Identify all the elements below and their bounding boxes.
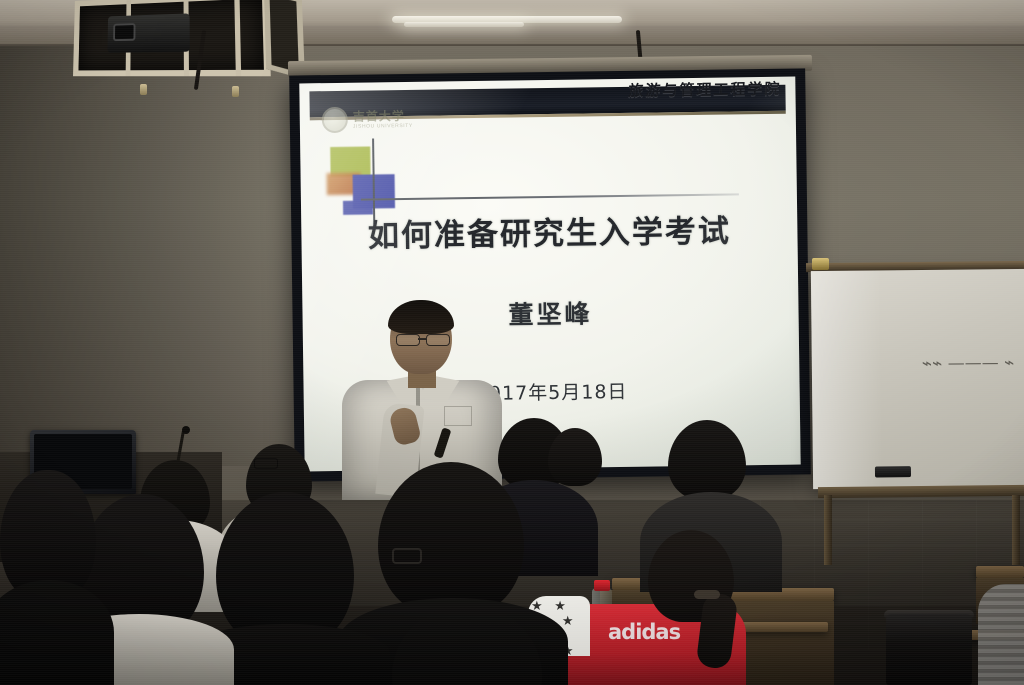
slide-decoration bbox=[326, 144, 415, 215]
audience-head bbox=[548, 428, 602, 486]
water-bottle-cap bbox=[594, 580, 610, 591]
whiteboard-leg bbox=[824, 495, 832, 565]
lecture-hall-scene: 旅游与管理工程学院 吉首大学 JISHOU UNIVERSITY 如何准备研究生… bbox=[0, 0, 1024, 685]
projector-lens-icon bbox=[113, 23, 135, 41]
audience-glasses bbox=[254, 458, 278, 469]
slide-banner-text: 旅游与管理工程学院 bbox=[628, 78, 782, 101]
speaker-shirt-pocket bbox=[444, 406, 472, 426]
ceiling-bolt bbox=[232, 86, 239, 97]
shirt-brand-text: adidas bbox=[608, 620, 680, 644]
whiteboard-eraser-icon bbox=[875, 466, 911, 477]
ceiling-bolt bbox=[140, 84, 147, 95]
audience-person-checkered-shirt bbox=[978, 584, 1024, 685]
microphone-icon bbox=[182, 426, 190, 434]
logo-name-cn: 吉首大学 bbox=[353, 109, 413, 122]
ceiling-light-glow bbox=[404, 22, 524, 27]
foreground-head bbox=[0, 470, 96, 598]
bench-seat bbox=[736, 622, 828, 632]
speaker-glasses-left-lens bbox=[396, 334, 420, 346]
desk bbox=[976, 566, 1024, 578]
logo-emblem-icon bbox=[322, 107, 348, 133]
speaker-glasses-bridge bbox=[418, 338, 426, 340]
slide-title: 如何准备研究生入学考试 bbox=[301, 205, 798, 257]
wall-shadow-left bbox=[0, 46, 300, 466]
whiteboard-clip-icon bbox=[812, 258, 829, 270]
foreground-glasses bbox=[392, 548, 422, 564]
logo-name-en: JISHOU UNIVERSITY bbox=[353, 123, 413, 129]
whiteboard-tray bbox=[818, 485, 1024, 498]
university-logo: 吉首大学 JISHOU UNIVERSITY bbox=[322, 106, 413, 133]
slide-horizontal-rule bbox=[361, 193, 739, 200]
whiteboard-leg bbox=[1012, 495, 1020, 565]
whiteboard[interactable]: ⌁⌁ ——— ⌁ bbox=[811, 269, 1024, 489]
whiteboard-writing: ⌁⌁ ——— ⌁ bbox=[922, 353, 1024, 384]
hair-tie bbox=[694, 590, 720, 599]
speaker-hair bbox=[388, 300, 454, 334]
whiteboard-glare bbox=[811, 270, 883, 489]
trash-bin bbox=[886, 614, 972, 685]
projector-cage bbox=[73, 0, 271, 76]
speaker-glasses-right-lens bbox=[426, 334, 450, 346]
